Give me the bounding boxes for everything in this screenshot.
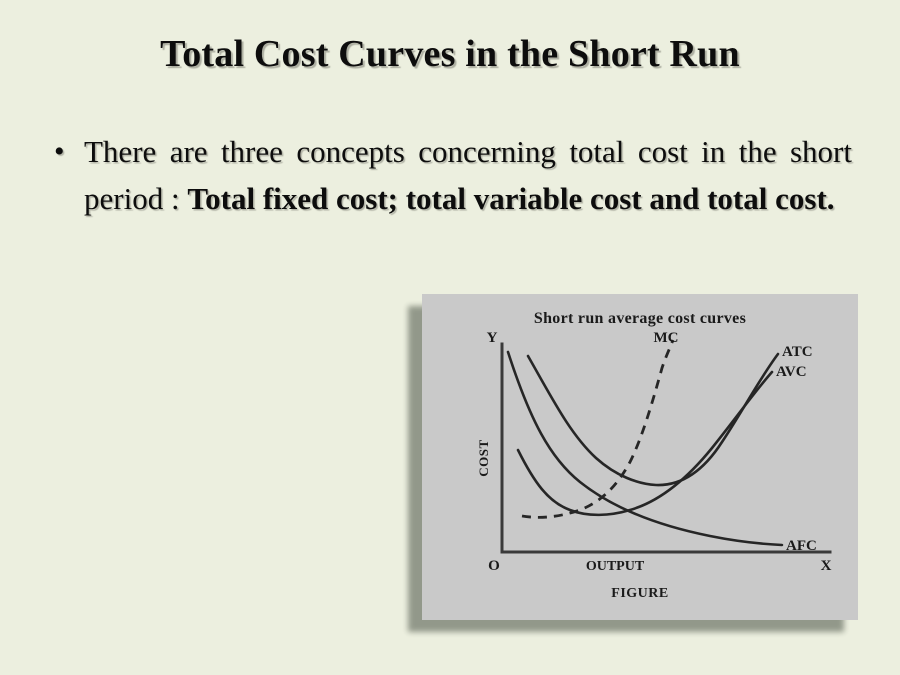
- afc-curve-label: AFC: [786, 538, 817, 554]
- avc-curve: [518, 372, 772, 515]
- x-axis-end-label: X: [821, 558, 832, 574]
- bullet-item-text: There are three concepts concerning tota…: [84, 128, 852, 222]
- x-axis-label: OUTPUT: [586, 559, 645, 574]
- afc-curve: [508, 352, 782, 545]
- y-axis-title: COST: [476, 439, 491, 476]
- avc-curve-label: AVC: [776, 364, 807, 380]
- cost-curves-chart: Y O OUTPUT X COST MC ATC AVC AFC: [430, 330, 850, 580]
- page-title: Total Cost Curves in the Short Run: [0, 32, 900, 76]
- body-content: • There are three concepts concerning to…: [48, 128, 852, 222]
- chart-title: Short run average cost curves: [430, 310, 850, 328]
- y-axis-end-label: Y: [487, 330, 498, 346]
- origin-label: O: [488, 558, 500, 574]
- bullet-text-bold: Total fixed cost; total variable cost an…: [187, 181, 834, 216]
- atc-curve-label: ATC: [782, 344, 813, 360]
- list-item: • There are three concepts concerning to…: [48, 128, 852, 222]
- mc-curve-label: MC: [654, 330, 679, 346]
- atc-curve: [528, 354, 778, 485]
- bullet-point-icon: •: [48, 128, 84, 175]
- figure-image: Short run average cost curves Y O OUTPUT: [422, 294, 858, 620]
- figure-caption: FIGURE: [430, 586, 850, 602]
- figure-panel: Short run average cost curves Y O OUTPUT: [422, 294, 858, 620]
